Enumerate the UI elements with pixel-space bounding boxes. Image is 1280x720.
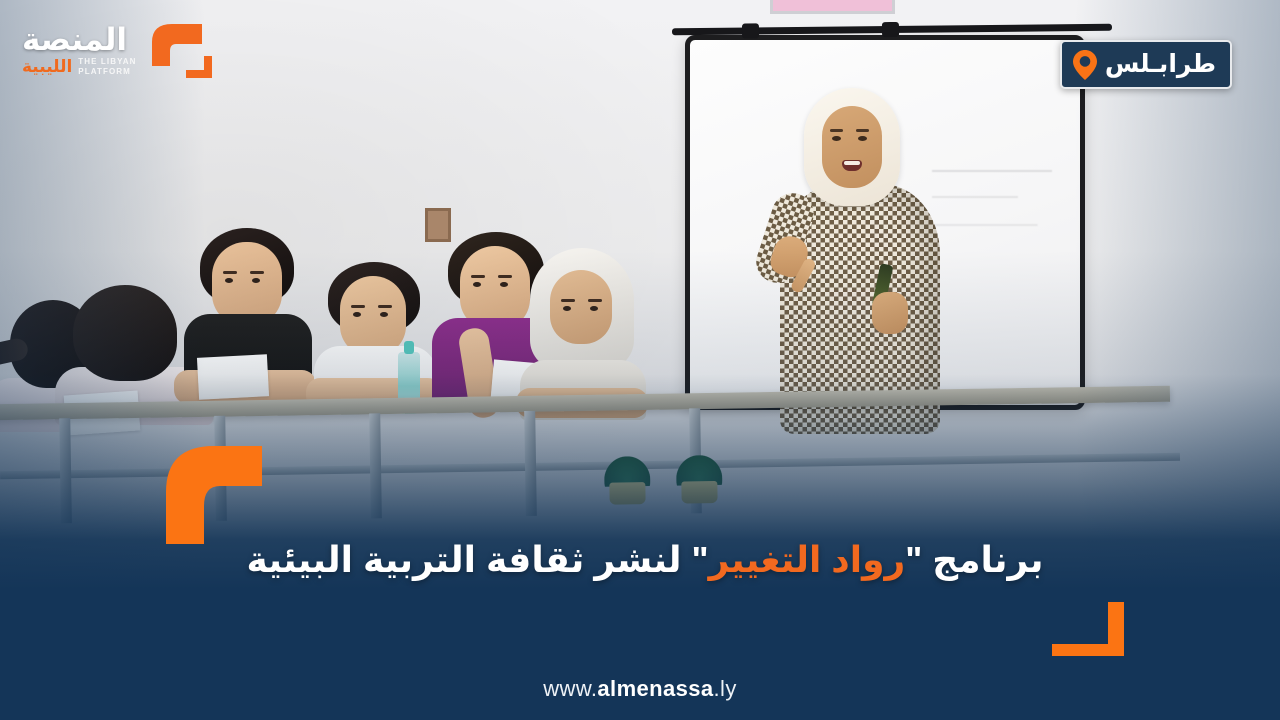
eye [832,136,841,141]
logo-hook-mark [146,20,220,82]
potted-plant [600,458,655,505]
logo-wordmark: المنصة THE LIBYAN PLATFORM الليبية [22,25,137,76]
eye [380,312,388,317]
headline: برنامج "رواد التغيير" لنشر ثقافة التربية… [240,536,1050,585]
eye [590,306,598,311]
desk-leg [524,411,537,516]
eyebrow [223,271,237,274]
logo-subtitle-row: THE LIBYAN PLATFORM الليبية [22,57,137,77]
headline-before: برنامج " [905,539,1043,580]
eyebrow [588,299,602,302]
eyebrow [830,129,843,132]
logo-english-line1: THE LIBYAN [78,57,136,66]
rail-clip [742,23,759,38]
eye [500,282,508,287]
location-badge[interactable]: طرابـلس [1060,40,1232,89]
headline-after: " لنشر ثقافة التربية البيئية [247,539,709,580]
eyebrow [498,275,512,278]
eyebrow [561,299,575,302]
eye [563,306,571,311]
eyebrow [250,271,264,274]
eye [473,282,481,287]
wall-poster [770,0,895,14]
orange-hook-decoration-small [1050,600,1142,658]
student-hair [73,285,177,381]
rail-clip [882,22,899,37]
desk-leg [369,413,382,518]
mouth [842,160,862,171]
eye [353,312,361,317]
plant-pot [609,482,645,505]
footer-bar: www.almenassa.ly [0,658,1280,720]
eyebrow [378,305,392,308]
logo-arabic-secondary: الليبية [22,58,72,75]
headline-accent: رواد التغيير [709,539,906,580]
worksheet-paper [197,354,269,400]
orange-hook-decoration-large [160,440,268,545]
news-card: المنصة THE LIBYAN PLATFORM الليبية طرابـ… [0,0,1280,720]
eye [225,278,233,283]
url-name: almenassa [597,676,713,701]
eye [252,278,260,283]
url-suffix: .ly [714,676,737,701]
website-url[interactable]: www.almenassa.ly [543,676,737,702]
logo-arabic-primary: المنصة [22,25,127,54]
eye [858,136,867,141]
eyebrow [856,129,869,132]
potted-plant [672,457,727,504]
desk-leg [59,418,72,523]
student-figure [178,228,318,418]
eyebrow [471,275,485,278]
student-face [550,270,612,344]
location-label: طرابـلس [1105,52,1216,77]
eyebrow [351,305,365,308]
teacher-face [822,106,882,188]
student-face [340,276,406,356]
teacher-hand [767,232,812,281]
map-pin-icon [1072,49,1098,81]
plant-pot [681,481,717,504]
url-prefix: www. [543,676,597,701]
logo-english-line2: PLATFORM [78,67,131,76]
site-logo[interactable]: المنصة THE LIBYAN PLATFORM الليبية [22,20,220,82]
teacher-lower-hand [872,292,908,334]
teacher-figure [760,88,975,433]
logo-english-text: THE LIBYAN PLATFORM [78,57,136,77]
